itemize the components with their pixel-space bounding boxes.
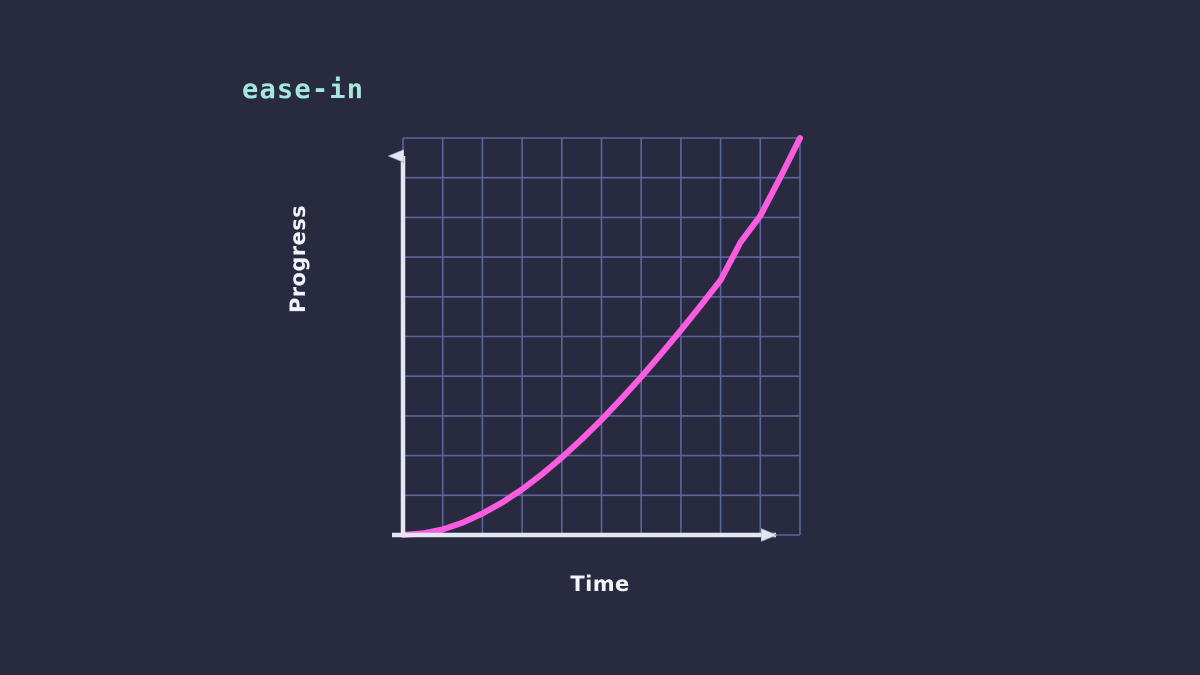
y-axis-label: Progress <box>286 199 312 319</box>
easing-chart-canvas: ease-in <box>0 0 1200 675</box>
grid-lines <box>403 138 800 535</box>
axis-lines <box>392 156 776 535</box>
x-axis-label: Time <box>540 572 660 596</box>
